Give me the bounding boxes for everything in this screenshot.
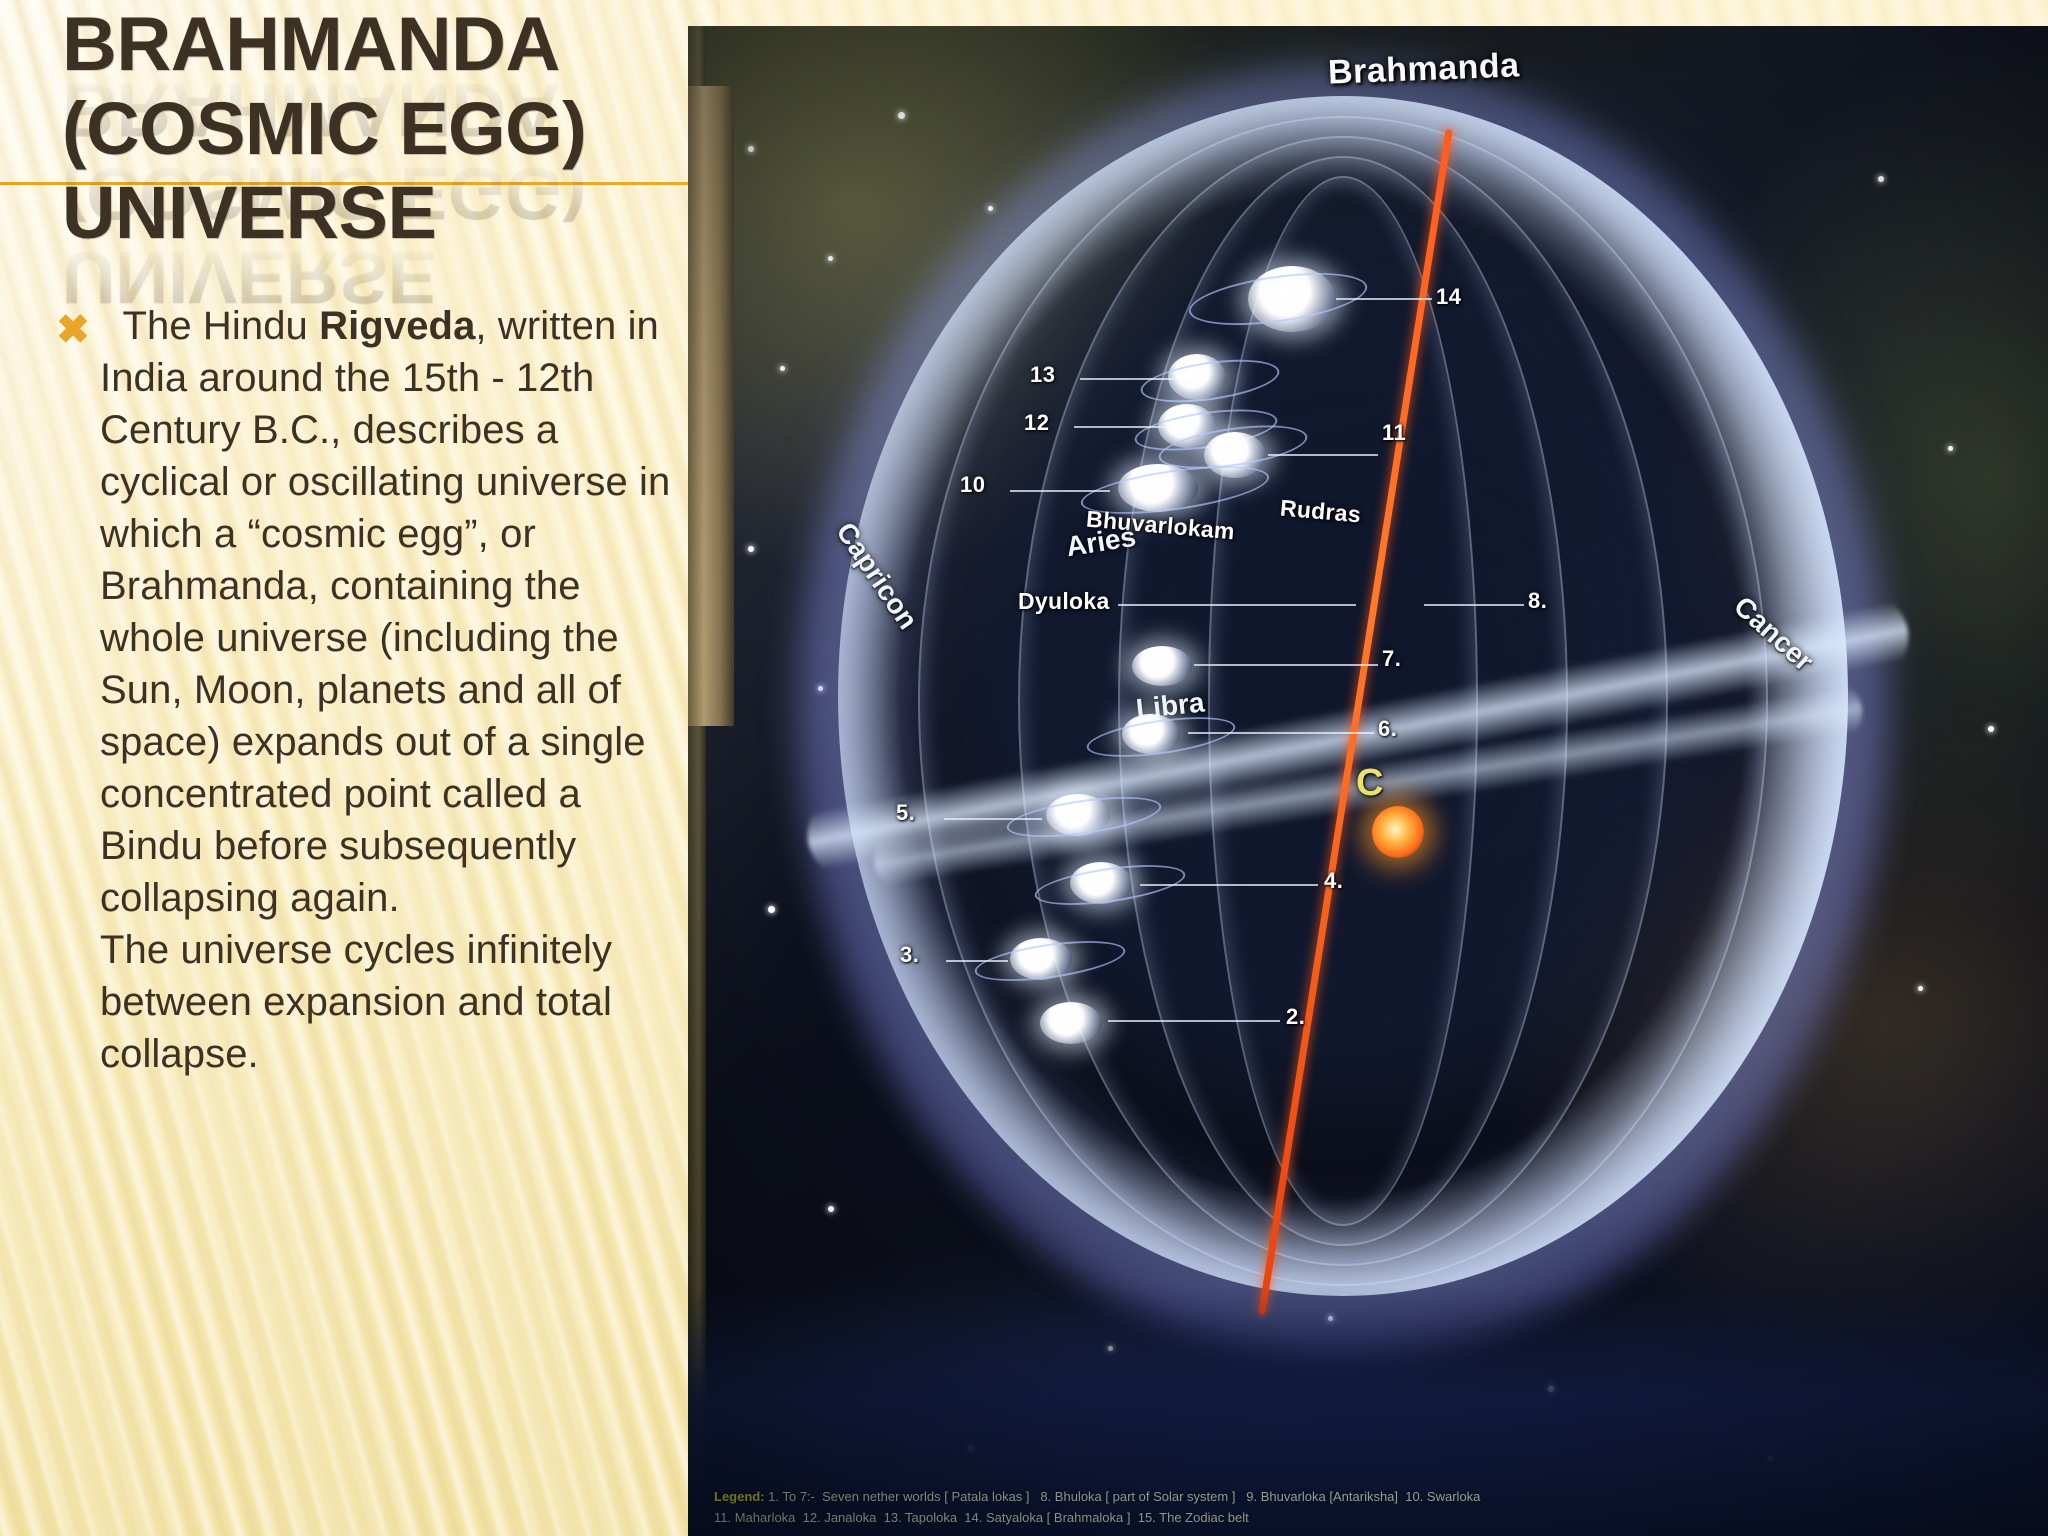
- title-line-2: (COSMIC EGG) (COSMIC EGG): [62, 88, 702, 172]
- diagram-legend: Legend: 1. To 7:- Seven nether worlds [ …: [714, 1486, 2038, 1528]
- leader-3: [946, 960, 1008, 962]
- leader-8: [1424, 604, 1524, 606]
- diagram-number-8: 8.: [1528, 588, 1547, 614]
- leader-5: [944, 818, 1042, 820]
- diagram-number-3: 3.: [900, 942, 919, 968]
- leader-10: [1010, 490, 1110, 492]
- diagram-number-5: 5.: [896, 800, 915, 826]
- page-title: BRAHMANDA BRAHMANDA (COSMIC EGG) (COSMIC…: [62, 4, 702, 256]
- loka-orb-2: [1040, 1002, 1102, 1044]
- diagram-number-7: 7.: [1382, 646, 1401, 672]
- star: [1918, 986, 1923, 991]
- loka-orb-7: [1132, 646, 1192, 686]
- star: [898, 112, 905, 119]
- leader-4: [1140, 884, 1318, 886]
- leader-13: [1080, 378, 1174, 380]
- star: [828, 256, 833, 261]
- title-line-1-text: BRAHMANDA: [62, 4, 702, 86]
- star: [988, 206, 993, 211]
- leader-14: [1336, 298, 1432, 300]
- star: [1948, 446, 1953, 451]
- title-line-1: BRAHMANDA BRAHMANDA: [62, 4, 702, 88]
- diagram-number-13: 13: [1030, 362, 1055, 388]
- diagram-center-marker-c: C: [1356, 762, 1383, 805]
- diagram-number-10: 10: [960, 472, 985, 498]
- star: [768, 906, 775, 913]
- leader-11: [1268, 454, 1378, 456]
- diagram-label-dyuloka: Dyuloka: [1018, 588, 1110, 615]
- legend-body: 1. To 7:- Seven nether worlds [ Patala l…: [714, 1489, 1480, 1525]
- diagram-number-11: 11: [1382, 420, 1406, 446]
- star: [748, 146, 754, 152]
- star: [780, 366, 785, 371]
- diagram-number-14: 14: [1436, 284, 1461, 310]
- title-line-3: UNIVERSE UNIVERSE: [62, 172, 702, 256]
- diagram-number-2: 2.: [1286, 1004, 1305, 1030]
- body-bullet-list: ✖ The Hindu Rigveda, written in India ar…: [46, 300, 686, 1080]
- star: [748, 546, 754, 552]
- title-line-3-text: UNIVERSE: [62, 172, 702, 254]
- diagram-number-4: 4.: [1324, 868, 1343, 894]
- bindu-point: [1372, 806, 1424, 858]
- leader-6: [1188, 732, 1374, 734]
- diagram-number-6: 6.: [1378, 716, 1397, 742]
- leader-dyuloka: [1118, 604, 1356, 606]
- star: [828, 1206, 834, 1212]
- diagram-caption: Brahmanda: [1327, 46, 1520, 92]
- leader-12: [1074, 426, 1166, 428]
- brahmanda-diagram-image: 14 13 12 11 10 Bhuvarlokam Rudras Aries …: [688, 26, 2048, 1536]
- leader-2: [1108, 1020, 1280, 1022]
- star: [1988, 726, 1994, 732]
- leader-7: [1194, 664, 1378, 666]
- diagram-number-12: 12: [1024, 410, 1049, 436]
- slide: BRAHMANDA BRAHMANDA (COSMIC EGG) (COSMIC…: [0, 0, 2048, 1536]
- legend-heading: Legend:: [714, 1489, 765, 1504]
- body-paragraph: The Hindu Rigveda, written in India arou…: [100, 300, 686, 1080]
- title-line-2-text: (COSMIC EGG): [62, 88, 702, 170]
- bullet-x-icon: ✖: [46, 300, 100, 356]
- star: [1878, 176, 1884, 182]
